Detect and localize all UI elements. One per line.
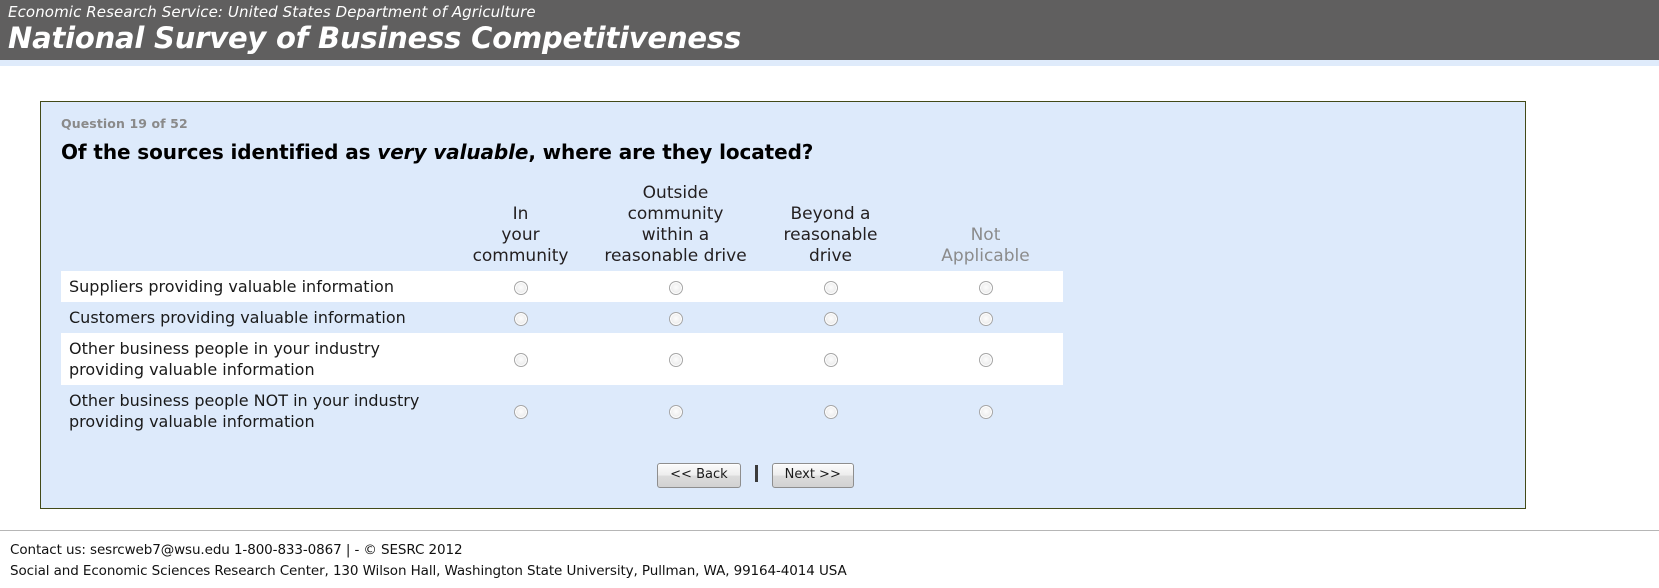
radio-button-icon[interactable]: [824, 281, 838, 295]
table-row: Other business people in your industry p…: [61, 333, 1063, 385]
radio-cell-r2c1[interactable]: [443, 302, 598, 333]
radio-cell-r3c2[interactable]: [598, 333, 753, 385]
question-emphasis: very valuable: [377, 140, 528, 164]
question-title: Of the sources identified as very valuab…: [41, 131, 1525, 164]
matrix-body: Suppliers providing valuable information…: [61, 271, 1063, 437]
radio-button-icon[interactable]: [979, 281, 993, 295]
col2-line2: within a: [599, 225, 752, 246]
radio-button-icon[interactable]: [669, 353, 683, 367]
question-progress: Question 19 of 52: [41, 102, 1525, 131]
radio-button-icon[interactable]: [514, 281, 528, 295]
radio-button-icon[interactable]: [514, 353, 528, 367]
row-label-customers: Customers providing valuable information: [61, 302, 443, 333]
back-button[interactable]: << Back: [657, 463, 740, 488]
radio-cell-r4c4[interactable]: [908, 385, 1063, 437]
radio-cell-r1c4[interactable]: [908, 271, 1063, 302]
column-header-beyond-reasonable-drive: Beyond a reasonable drive: [753, 182, 908, 271]
radio-button-icon[interactable]: [979, 353, 993, 367]
radio-cell-r1c3[interactable]: [753, 271, 908, 302]
radio-button-icon[interactable]: [824, 405, 838, 419]
table-row: Suppliers providing valuable information: [61, 271, 1063, 302]
col2-line3: reasonable drive: [599, 246, 752, 267]
nav-separator: [755, 465, 758, 482]
radio-button-icon[interactable]: [669, 312, 683, 326]
radio-button-icon[interactable]: [979, 405, 993, 419]
col4-line1: Not: [909, 225, 1062, 246]
table-row: Customers providing valuable information: [61, 302, 1063, 333]
footer-address-line: Social and Economic Sciences Research Ce…: [10, 561, 1659, 582]
col3-line2: reasonable: [754, 225, 907, 246]
radio-button-icon[interactable]: [514, 405, 528, 419]
column-header-in-your-community: In your community: [443, 182, 598, 271]
table-row: Other business people NOT in your indust…: [61, 385, 1063, 437]
col1-line1: In: [444, 204, 597, 225]
radio-button-icon[interactable]: [824, 353, 838, 367]
radio-cell-r3c4[interactable]: [908, 333, 1063, 385]
col3-line1: Beyond a: [754, 204, 907, 225]
radio-cell-r4c3[interactable]: [753, 385, 908, 437]
column-header-not-applicable: Not Applicable: [908, 182, 1063, 271]
col1-line2: your: [444, 225, 597, 246]
radio-cell-r1c2[interactable]: [598, 271, 753, 302]
radio-button-icon[interactable]: [979, 312, 993, 326]
radio-button-icon[interactable]: [669, 405, 683, 419]
footer-contact-line: Contact us: sesrcweb7@wsu.edu 1-800-833-…: [10, 540, 1659, 561]
radio-cell-r3c3[interactable]: [753, 333, 908, 385]
radio-button-icon[interactable]: [669, 281, 683, 295]
col1-line3: community: [444, 246, 597, 267]
radio-cell-r4c2[interactable]: [598, 385, 753, 437]
col4-line2: Applicable: [909, 246, 1062, 267]
page-body: Question 19 of 52 Of the sources identif…: [0, 66, 1659, 521]
radio-cell-r3c1[interactable]: [443, 333, 598, 385]
question-prefix: Of the sources identified as: [61, 140, 377, 164]
row-label-suppliers: Suppliers providing valuable information: [61, 271, 443, 302]
question-suffix: , where are they located?: [528, 140, 813, 164]
matrix-header: In your community Outside community with…: [61, 182, 1063, 271]
next-button[interactable]: Next >>: [772, 463, 854, 488]
radio-cell-r2c4[interactable]: [908, 302, 1063, 333]
site-footer: Contact us: sesrcweb7@wsu.edu 1-800-833-…: [0, 530, 1659, 588]
col3-line3: drive: [754, 246, 907, 267]
navigation-row: << BackNext >>: [0, 437, 1525, 508]
radio-button-icon[interactable]: [824, 312, 838, 326]
site-header: Economic Research Service: United States…: [0, 0, 1659, 60]
column-header-outside-community: Outside community within a reasonable dr…: [598, 182, 753, 271]
radio-cell-r2c3[interactable]: [753, 302, 908, 333]
agency-name: Economic Research Service: United States…: [8, 3, 1659, 21]
survey-question-panel: Question 19 of 52 Of the sources identif…: [40, 101, 1526, 509]
radio-cell-r1c1[interactable]: [443, 271, 598, 302]
radio-button-icon[interactable]: [514, 312, 528, 326]
row-label-other-not-in-industry: Other business people NOT in your indust…: [61, 385, 443, 437]
site-title: National Survey of Business Competitiven…: [8, 21, 1659, 55]
radio-cell-r2c2[interactable]: [598, 302, 753, 333]
col2-line1: Outside community: [599, 183, 752, 225]
radio-cell-r4c1[interactable]: [443, 385, 598, 437]
response-matrix: In your community Outside community with…: [61, 182, 1063, 437]
row-label-other-in-industry: Other business people in your industry p…: [61, 333, 443, 385]
matrix-corner-cell: [61, 182, 443, 271]
